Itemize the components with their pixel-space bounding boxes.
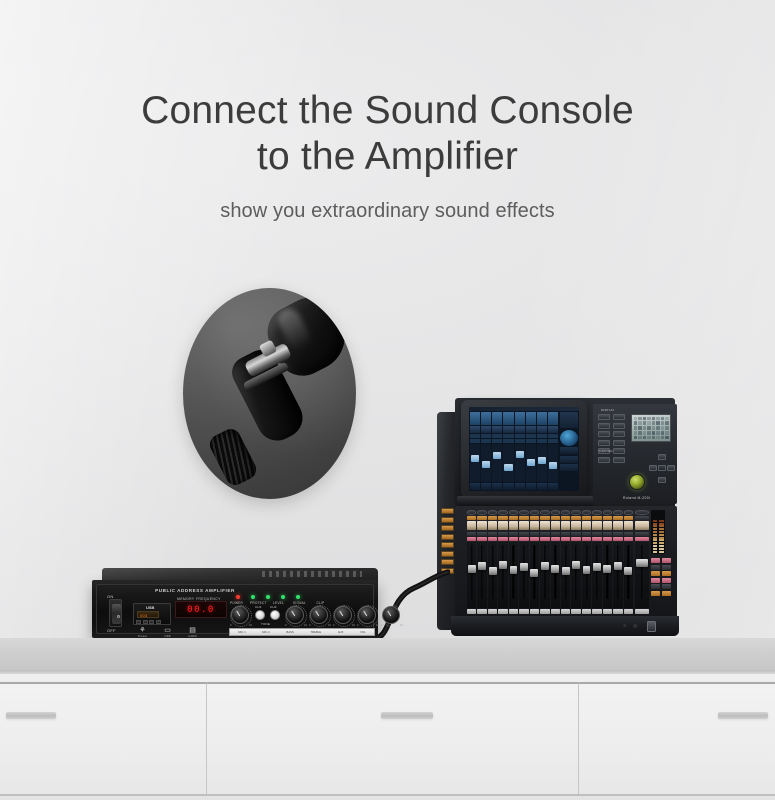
meter-segment	[653, 548, 658, 550]
control-panel-button[interactable]	[598, 440, 610, 446]
lcd-cell	[643, 421, 647, 425]
tablet-button[interactable]	[560, 447, 578, 454]
channel-solo-button[interactable]	[551, 532, 560, 536]
usb-port[interactable]	[647, 621, 656, 632]
channel-encoder[interactable]	[582, 510, 591, 515]
tablet-fader-handle[interactable]	[493, 452, 501, 459]
tablet-channel-strip[interactable]	[515, 412, 525, 490]
channel-encoder[interactable]	[592, 510, 601, 515]
drawer-handle[interactable]	[718, 712, 768, 719]
drawer-left[interactable]	[0, 682, 207, 794]
drawer-handle[interactable]	[381, 712, 433, 719]
master-encoder[interactable]	[635, 510, 649, 515]
amplifier-led-display: 00.0	[175, 601, 227, 618]
tablet-pan-dial[interactable]	[560, 430, 578, 446]
channel-mute-button[interactable]	[551, 537, 560, 542]
channel-encoder[interactable]	[551, 510, 560, 515]
channel-solo-button[interactable]	[467, 532, 476, 536]
power-rocker-switch[interactable]	[109, 599, 122, 627]
channel-select-button[interactable]	[467, 516, 476, 520]
knob-bass[interactable]: 010	[358, 606, 376, 624]
usb-module-label: USB	[146, 605, 154, 610]
channel-select-button[interactable]	[624, 516, 633, 520]
meter-segment	[659, 545, 664, 547]
channel-name-label	[571, 609, 580, 614]
channel-encoder[interactable]	[624, 510, 633, 515]
lcd-cell	[661, 421, 665, 425]
channel-encoder[interactable]	[498, 510, 507, 515]
channel-mute-button[interactable]	[530, 537, 539, 542]
page-title-line-2: to the Amplifier	[0, 134, 775, 180]
channel-scribble-strip	[519, 521, 528, 530]
channel-mute-button[interactable]	[477, 537, 486, 542]
side-panel-button[interactable]	[441, 525, 454, 531]
channel-solo-button[interactable]	[603, 532, 612, 536]
fader-handle[interactable]	[530, 569, 538, 577]
channel-strip[interactable]	[477, 510, 486, 614]
tablet-fader-track[interactable]	[470, 444, 480, 482]
tablet-fader-track[interactable]	[548, 444, 558, 482]
channel-scribble-strip	[571, 521, 580, 530]
function-button[interactable]	[662, 591, 671, 596]
channel-select-button[interactable]	[551, 516, 560, 520]
fader-handle[interactable]	[583, 566, 591, 574]
tablet-dock[interactable]	[461, 400, 587, 498]
function-button[interactable]	[662, 584, 671, 589]
tablet-btn[interactable]	[515, 439, 525, 443]
fader-handle[interactable]	[551, 565, 559, 573]
channel-solo-button[interactable]	[519, 532, 528, 536]
meter-segment	[653, 542, 658, 544]
usb-prev-button[interactable]	[136, 620, 141, 624]
tablet-btn[interactable]	[503, 434, 513, 438]
channel-solo-button[interactable]	[509, 532, 518, 536]
tablet-fader-handle[interactable]	[538, 457, 546, 464]
channel-name-label	[519, 609, 528, 614]
control-panel-button[interactable]	[598, 457, 610, 463]
power-led	[236, 595, 240, 599]
meter-segment	[653, 520, 658, 522]
channel-fader[interactable]	[540, 542, 549, 607]
usb-play-button[interactable]	[143, 620, 148, 624]
channel-select-button[interactable]	[498, 516, 507, 520]
tablet-fader-handle[interactable]	[482, 461, 490, 468]
channel-solo-button[interactable]	[540, 532, 549, 536]
tablet-channel-strip[interactable]	[470, 412, 480, 490]
console-lcd-screen	[631, 414, 671, 442]
channel-fader[interactable]	[571, 542, 580, 607]
meter-segment	[659, 523, 664, 525]
amplifier-label-strip: MIC 1MIC 2BASSTREBLEAUXVOL	[229, 628, 375, 636]
tablet-knob	[503, 426, 513, 433]
tablet-btn[interactable]	[515, 434, 525, 438]
channel-encoder[interactable]	[571, 510, 580, 515]
channel-fader[interactable]	[477, 542, 486, 607]
knob-treble[interactable]: 010	[382, 606, 400, 624]
tablet-btn[interactable]	[481, 434, 491, 438]
tablet-screen[interactable]	[469, 407, 579, 491]
tablet-knob	[470, 426, 480, 433]
tablet-btn[interactable]	[503, 439, 513, 443]
lcd-cell	[665, 431, 669, 435]
channel-strip[interactable]	[613, 510, 622, 614]
channel-select-button[interactable]	[540, 516, 549, 520]
drawer-handle[interactable]	[6, 712, 56, 719]
fader-handle[interactable]	[489, 567, 497, 575]
knob-mic-2[interactable]: 010	[310, 606, 328, 624]
channel-fader[interactable]	[530, 542, 539, 607]
channel-encoder[interactable]	[477, 510, 486, 515]
tablet-channel-strip[interactable]	[492, 412, 502, 490]
channel-solo-button[interactable]	[592, 532, 601, 536]
tablet-btn[interactable]	[548, 439, 558, 443]
master-fader[interactable]	[635, 542, 649, 607]
push-button-ch1[interactable]	[255, 610, 265, 620]
channel-fader[interactable]	[488, 542, 497, 607]
tablet-btn[interactable]	[470, 439, 480, 443]
channel-strip[interactable]	[624, 510, 633, 614]
channel-select-button[interactable]	[613, 516, 622, 520]
side-panel-button[interactable]	[441, 508, 454, 514]
channel-scribble-strip	[467, 521, 476, 530]
fader-handle[interactable]	[510, 566, 518, 574]
tablet-channel-label	[515, 483, 525, 490]
lcd-cell	[634, 426, 638, 430]
tablet-fader-handle[interactable]	[471, 455, 479, 462]
function-button[interactable]	[651, 578, 660, 583]
channel-mute-button[interactable]	[561, 537, 570, 542]
tablet-fader-track[interactable]	[537, 444, 547, 482]
control-panel-button[interactable]	[613, 457, 625, 463]
tablet-btn[interactable]	[470, 434, 480, 438]
channel-strip[interactable]	[488, 510, 497, 614]
channel-encoder[interactable]	[561, 510, 570, 515]
function-button[interactable]	[651, 571, 660, 576]
channel-select-button[interactable]	[603, 516, 612, 520]
channel-mute-button[interactable]	[498, 537, 507, 542]
channel-encoder[interactable]	[540, 510, 549, 515]
drawer-right[interactable]	[579, 682, 775, 794]
channel-strip-bank[interactable]	[467, 510, 633, 614]
tablet-channel-strip[interactable]	[548, 412, 558, 490]
channel-solo-button[interactable]	[477, 532, 486, 536]
channel-strip[interactable]	[540, 510, 549, 614]
desk-edge	[0, 670, 775, 674]
channel-fader[interactable]	[519, 542, 528, 607]
channel-encoder[interactable]	[603, 510, 612, 515]
channel-push-buttons[interactable]: CH1CH2TONE	[255, 610, 280, 620]
channel-select-button[interactable]	[519, 516, 528, 520]
sd-card-icon-group: ▤CARD	[187, 627, 198, 638]
knob-aux[interactable]: 010	[334, 606, 352, 624]
channel-strip[interactable]	[467, 510, 476, 614]
amplifier-knob-row[interactable]: 010CH1CH2TONE010010010010010	[231, 606, 400, 624]
strip-label: TREBLE	[310, 631, 321, 634]
channel-encoder[interactable]	[530, 510, 539, 515]
channel-solo-button[interactable]	[571, 532, 580, 536]
tablet-fader-handle[interactable]	[527, 459, 535, 466]
channel-encoder[interactable]	[467, 510, 476, 515]
channel-scribble-strip	[477, 521, 486, 530]
channel-scribble-strip	[613, 521, 622, 530]
channel-strip[interactable]	[603, 510, 612, 614]
phones-level-knob[interactable]	[633, 624, 638, 629]
rocker-cap	[112, 604, 121, 624]
function-button[interactable]	[662, 578, 671, 583]
channel-select-button[interactable]	[477, 516, 486, 520]
lcd-cell	[643, 417, 647, 421]
tablet-master-section[interactable]	[560, 412, 578, 490]
channel-strip[interactable]	[582, 510, 591, 614]
channel-select-button[interactable]	[509, 516, 518, 520]
fader-handle[interactable]	[478, 562, 486, 570]
control-panel-section-label: DISPLAY	[601, 408, 615, 412]
tablet-meter	[481, 412, 491, 425]
channel-fader[interactable]	[624, 542, 633, 607]
lcd-cell	[638, 426, 642, 430]
lcd-cell	[643, 431, 647, 435]
protect-led	[251, 595, 255, 599]
tablet-fader-handle[interactable]	[549, 462, 557, 469]
tablet-fader-track[interactable]	[515, 444, 525, 482]
push-button-label-ch2: CH2	[270, 605, 277, 609]
power-off-label: OFF	[107, 628, 116, 633]
fader-handle[interactable]	[499, 561, 507, 569]
meter-column	[659, 512, 664, 553]
channel-select-button[interactable]	[571, 516, 580, 520]
channel-encoder[interactable]	[488, 510, 497, 515]
headphone-jack[interactable]	[623, 624, 627, 628]
hero-text-block: Connect the Sound Console to the Amplifi…	[0, 88, 775, 223]
function-button[interactable]	[651, 565, 660, 570]
channel-strip[interactable]	[561, 510, 570, 614]
channel-fader[interactable]	[498, 542, 507, 607]
channel-solo-button[interactable]	[498, 532, 507, 536]
fader-handle[interactable]	[572, 561, 580, 569]
channel-name-label	[488, 609, 497, 614]
fader-handle[interactable]	[614, 562, 622, 570]
channel-scribble-strip	[498, 521, 507, 530]
channel-fader[interactable]	[551, 542, 560, 607]
channel-fader[interactable]	[592, 542, 601, 607]
control-panel-button[interactable]	[598, 431, 610, 437]
channel-mute-button[interactable]	[519, 537, 528, 542]
fader-slot	[482, 545, 483, 598]
dpad-right-button[interactable]	[667, 465, 675, 471]
side-panel-button[interactable]	[441, 517, 454, 523]
tablet-channel-strips[interactable]	[470, 412, 558, 490]
function-button[interactable]	[651, 591, 660, 596]
channel-scribble-strip	[592, 521, 601, 530]
usb-mode-button[interactable]	[156, 620, 161, 624]
navigation-dpad[interactable]	[649, 454, 675, 484]
drawer-center[interactable]	[207, 682, 579, 794]
channel-fader[interactable]	[603, 542, 612, 607]
push-button-label-ch1: CH1	[255, 605, 262, 609]
lcd-cell	[656, 431, 660, 435]
master-solo-button[interactable]	[635, 532, 649, 536]
microphone-icon: ⚘	[137, 627, 148, 634]
channel-solo-button[interactable]	[488, 532, 497, 536]
tablet-fader-handle[interactable]	[504, 464, 512, 471]
channel-name-label	[624, 609, 633, 614]
tablet-channel-strip[interactable]	[503, 412, 513, 490]
channel-name-label	[540, 609, 549, 614]
tablet-button[interactable]	[560, 456, 578, 463]
channel-name-label	[467, 609, 476, 614]
tablet-channel-label	[503, 483, 513, 490]
channel-mute-button[interactable]	[624, 537, 633, 542]
channel-mute-button[interactable]	[488, 537, 497, 542]
master-label	[635, 609, 649, 614]
input-source-icons: ⚘Preset▭USB▤CARD	[137, 627, 198, 638]
strip-label: AUX	[338, 631, 344, 634]
channel-mute-button[interactable]	[582, 537, 591, 542]
control-panel-button[interactable]	[598, 414, 610, 420]
channel-mute-button[interactable]	[613, 537, 622, 542]
knob-mic-1[interactable]: 010	[286, 606, 304, 624]
xlr-connector-magnifier	[183, 288, 356, 499]
channel-mute-button[interactable]	[603, 537, 612, 542]
tablet-button[interactable]	[560, 464, 578, 471]
tablet-fader-track[interactable]	[481, 444, 491, 482]
tablet-meter	[492, 412, 502, 425]
channel-strip[interactable]	[551, 510, 560, 614]
function-button[interactable]	[662, 558, 671, 563]
control-panel-button-grid[interactable]	[598, 414, 625, 463]
function-button[interactable]	[651, 558, 660, 563]
lcd-column	[661, 417, 665, 440]
fader-handle[interactable]	[541, 562, 549, 570]
channel-select-button[interactable]	[592, 516, 601, 520]
tablet-btn[interactable]	[537, 434, 547, 438]
right-button-bank[interactable]	[651, 558, 673, 596]
control-panel-button[interactable]	[613, 448, 625, 454]
lcd-cell	[638, 431, 642, 435]
channel-encoder[interactable]	[613, 510, 622, 515]
master-mute-button[interactable]	[635, 537, 649, 542]
usb-media-module[interactable]: USB 003	[133, 603, 171, 625]
dpad-enter-button[interactable]	[658, 465, 666, 471]
master-fader-strip[interactable]	[635, 510, 649, 614]
fader-handle[interactable]	[468, 565, 476, 573]
side-panel-button[interactable]	[441, 534, 454, 540]
channel-fader[interactable]	[509, 542, 518, 607]
lcd-cell	[652, 431, 656, 435]
side-panel-button[interactable]	[441, 542, 454, 548]
control-panel-button[interactable]	[613, 440, 625, 446]
fader-handle[interactable]	[562, 567, 570, 575]
tablet-fader-handle[interactable]	[516, 451, 524, 458]
channel-solo-button[interactable]	[624, 532, 633, 536]
tablet-btn[interactable]	[537, 439, 547, 443]
dpad-left-button[interactable]	[649, 465, 657, 471]
tablet-channel-strip[interactable]	[537, 412, 547, 490]
push-button-ch2[interactable]	[270, 610, 280, 620]
usb-next-button[interactable]	[149, 620, 154, 624]
channel-scribble-strip	[530, 521, 539, 530]
master-scribble-strip	[635, 521, 649, 530]
dpad-down-button[interactable]	[658, 477, 666, 483]
channel-encoder[interactable]	[519, 510, 528, 515]
channel-mute-button[interactable]	[571, 537, 580, 542]
function-button[interactable]	[662, 565, 671, 570]
channel-select-button[interactable]	[488, 516, 497, 520]
channel-name-label	[603, 609, 612, 614]
channel-fader[interactable]	[467, 542, 476, 607]
channel-strip[interactable]	[498, 510, 507, 614]
tablet-fader-track[interactable]	[492, 444, 502, 482]
channel-fader[interactable]	[561, 542, 570, 607]
control-panel-button[interactable]	[613, 431, 625, 437]
control-panel-button[interactable]	[613, 414, 625, 420]
knob-min-label: 0	[230, 624, 231, 627]
tablet-btn[interactable]	[492, 439, 502, 443]
channel-mute-button[interactable]	[509, 537, 518, 542]
channel-solo-button[interactable]	[530, 532, 539, 536]
channel-scribble-strip	[561, 521, 570, 530]
fader-handle[interactable]	[624, 567, 632, 575]
tablet-btn[interactable]	[526, 439, 536, 443]
function-button[interactable]	[651, 584, 660, 589]
channel-mute-button[interactable]	[467, 537, 476, 542]
tablet-channel-strip[interactable]	[481, 412, 491, 490]
channel-encoder[interactable]	[509, 510, 518, 515]
tablet-channel-strip[interactable]	[526, 412, 536, 490]
channel-mute-button[interactable]	[540, 537, 549, 542]
sd-card-icon: ▤	[187, 627, 198, 634]
control-panel-button[interactable]	[598, 423, 610, 429]
channel-strip[interactable]	[509, 510, 518, 614]
fader-handle[interactable]	[593, 563, 601, 571]
channel-fader[interactable]	[613, 542, 622, 607]
fader-handle[interactable]	[603, 565, 611, 573]
tablet-btn[interactable]	[481, 439, 491, 443]
channel-solo-button[interactable]	[582, 532, 591, 536]
tablet-fader-track[interactable]	[526, 444, 536, 482]
channel-solo-button[interactable]	[561, 532, 570, 536]
function-button[interactable]	[662, 571, 671, 576]
tablet-btn[interactable]	[492, 434, 502, 438]
tablet-meter	[470, 412, 480, 425]
channel-select-button[interactable]	[530, 516, 539, 520]
tablet-btn[interactable]	[548, 434, 558, 438]
knob-master[interactable]: 010	[231, 606, 249, 624]
channel-select-button[interactable]	[582, 516, 591, 520]
fader-handle[interactable]	[520, 563, 528, 571]
master-button[interactable]	[635, 516, 649, 520]
dpad-up-button[interactable]	[658, 454, 666, 460]
control-panel-button[interactable]	[613, 423, 625, 429]
tablet-knob	[481, 426, 491, 433]
tablet-btn[interactable]	[526, 434, 536, 438]
channel-fader[interactable]	[582, 542, 591, 607]
channel-strip[interactable]	[519, 510, 528, 614]
channel-mute-button[interactable]	[592, 537, 601, 542]
usb-transport-buttons[interactable]	[136, 620, 161, 624]
channel-strip[interactable]	[530, 510, 539, 614]
knob-range-labels: 010	[285, 624, 307, 627]
channel-select-button[interactable]	[561, 516, 570, 520]
channel-strip[interactable]	[592, 510, 601, 614]
channel-strip[interactable]	[571, 510, 580, 614]
channel-scribble-strip	[582, 521, 591, 530]
channel-solo-button[interactable]	[613, 532, 622, 536]
side-panel-button[interactable]	[441, 551, 454, 557]
master-fader-handle[interactable]	[636, 559, 648, 567]
tablet-fader-track[interactable]	[503, 444, 513, 482]
value-encoder-knob[interactable]	[629, 474, 645, 490]
